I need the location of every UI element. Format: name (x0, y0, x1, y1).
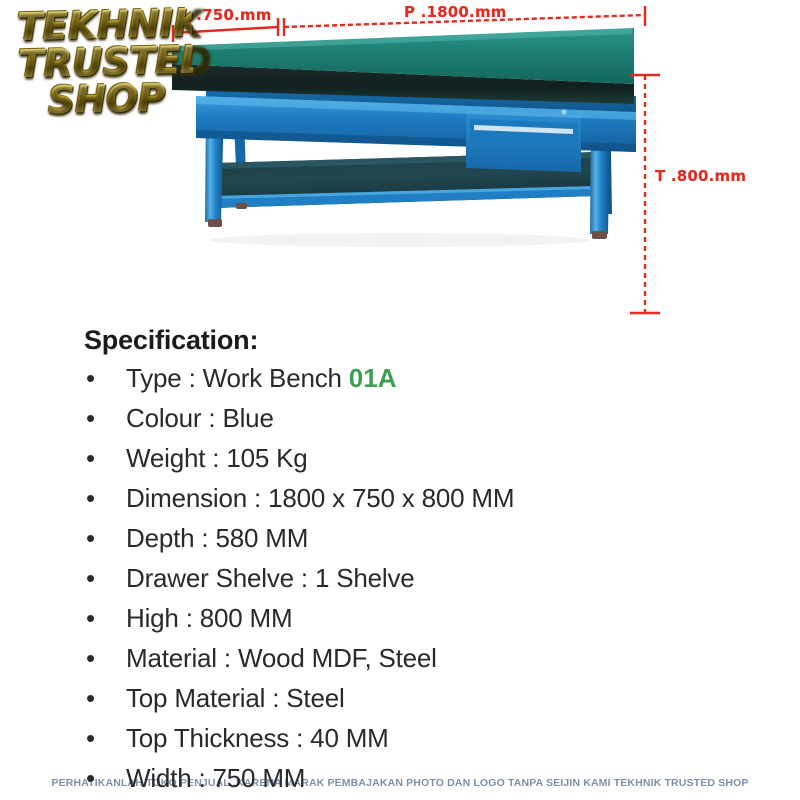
specification-item: •Weight : 105 Kg (84, 438, 800, 478)
specification-item-text: High : 800 MM (126, 603, 292, 633)
specification-item-text: Dimension : 1800 x 750 x 800 MM (126, 483, 514, 513)
bullet-icon: • (86, 638, 95, 678)
specification-item: •High : 800 MM (84, 598, 800, 638)
specification-item: •Type : Work Bench 01A (84, 358, 800, 398)
specification-item-text: Drawer Shelve : 1 Shelve (126, 563, 415, 593)
specification-section: Specification: •Type : Work Bench 01A•Co… (0, 325, 800, 798)
specification-item-text: Material : Wood MDF, Steel (126, 643, 437, 673)
specification-item: •Top Thickness : 40 MM (84, 718, 800, 758)
product-photo-area: L .750.mm P .1800.mm T .800.mm TEKHNIK T… (0, 0, 800, 325)
specification-item-text: Type : Work Bench (126, 363, 349, 393)
bullet-icon: • (86, 478, 95, 518)
specification-item-text: Width : 750 MM (126, 763, 305, 793)
specification-item: •Width : 750 MM (84, 758, 800, 798)
specification-item-text: Top Material : Steel (126, 683, 345, 713)
bullet-icon: • (86, 558, 95, 598)
specification-item: •Dimension : 1800 x 750 x 800 MM (84, 478, 800, 518)
specification-item-text: Depth : 580 MM (126, 523, 308, 553)
specification-item-text: Weight : 105 Kg (126, 443, 308, 473)
specification-item: •Colour : Blue (84, 398, 800, 438)
specification-item: •Top Material : Steel (84, 678, 800, 718)
specification-heading: Specification: (84, 325, 800, 356)
bullet-icon: • (86, 598, 95, 638)
bullet-icon: • (86, 718, 95, 758)
bullet-icon: • (86, 438, 95, 478)
specification-item-text: Top Thickness : 40 MM (126, 723, 389, 753)
logo-line-3: SHOP (19, 80, 195, 120)
bullet-icon: • (86, 758, 95, 798)
specification-item: •Drawer Shelve : 1 Shelve (84, 558, 800, 598)
dimension-label-height: T .800.mm (655, 167, 746, 185)
specification-item: •Material : Wood MDF, Steel (84, 638, 800, 678)
brand-logo-watermark: TEKHNIK TRUSTED SHOP (17, 6, 195, 119)
bullet-icon: • (86, 678, 95, 718)
specification-item: •Depth : 580 MM (84, 518, 800, 558)
specification-list: •Type : Work Bench 01A•Colour : Blue•Wei… (0, 358, 800, 798)
bullet-icon: • (86, 398, 95, 438)
specification-item-text: Colour : Blue (126, 403, 274, 433)
bullet-icon: • (86, 358, 95, 398)
specification-item-code: 01A (349, 363, 397, 393)
bullet-icon: • (86, 518, 95, 558)
dimension-label-depth: P .1800.mm (404, 3, 507, 21)
